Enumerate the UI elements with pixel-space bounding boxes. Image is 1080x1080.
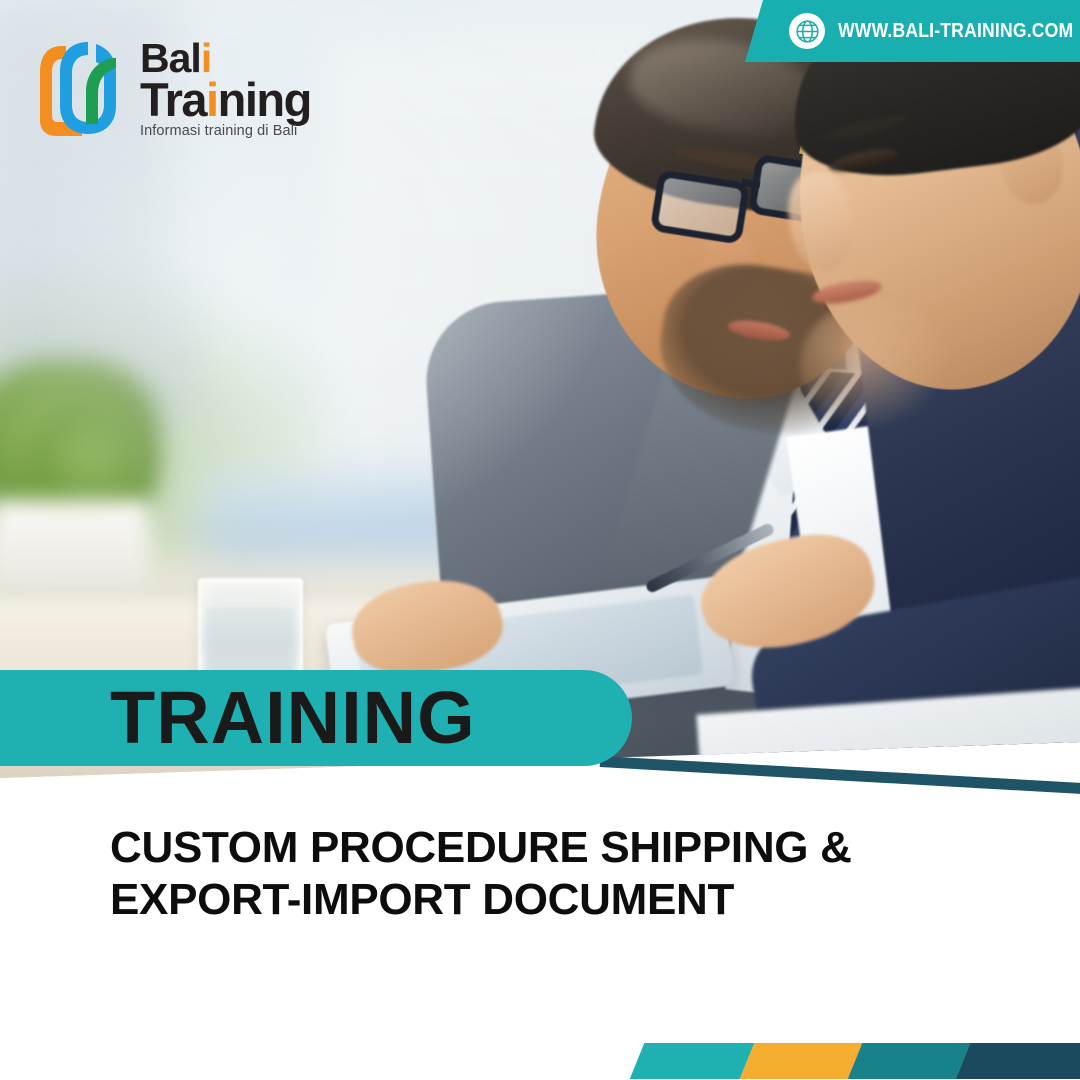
bottom-bar-segment-teal — [630, 1043, 755, 1079]
training-banner-label: TRAINING — [110, 681, 476, 755]
bottom-bar-segment-dark-teal — [848, 1043, 971, 1079]
brand-tagline: Informasi training di Bali — [140, 123, 311, 139]
bottom-bar-segment-navy-fill — [1050, 1043, 1080, 1079]
poster-canvas: Bali Training Informasi training di Bali… — [0, 0, 1080, 1080]
course-title: CUSTOM PROCEDURE SHIPPING & EXPORT-IMPOR… — [110, 822, 1010, 927]
website-badge[interactable]: WWW.BALI-TRAINING.COM — [745, 0, 1080, 62]
course-title-line2: EXPORT-IMPORT DOCUMENT — [110, 874, 1010, 926]
diagonal-accent-stripe — [600, 756, 1080, 802]
bottom-accent-bar — [0, 1043, 1080, 1079]
man-foreground-chin — [800, 300, 950, 430]
plant-pot — [0, 500, 150, 590]
course-title-line1: CUSTOM PROCEDURE SHIPPING & — [110, 822, 1010, 874]
bottom-bar-segment-orange — [740, 1043, 863, 1079]
globe-icon — [789, 13, 825, 49]
website-url-text: WWW.BALI-TRAINING.COM — [838, 20, 1073, 43]
brand-logo-line2: Training — [140, 78, 311, 123]
brand-logo-text: Bali Training Informasi training di Bali — [140, 32, 311, 139]
brand-logo[interactable]: Bali Training Informasi training di Bali — [36, 32, 311, 140]
training-banner: TRAINING — [0, 670, 632, 766]
book-leaf-logo-icon — [36, 32, 132, 140]
